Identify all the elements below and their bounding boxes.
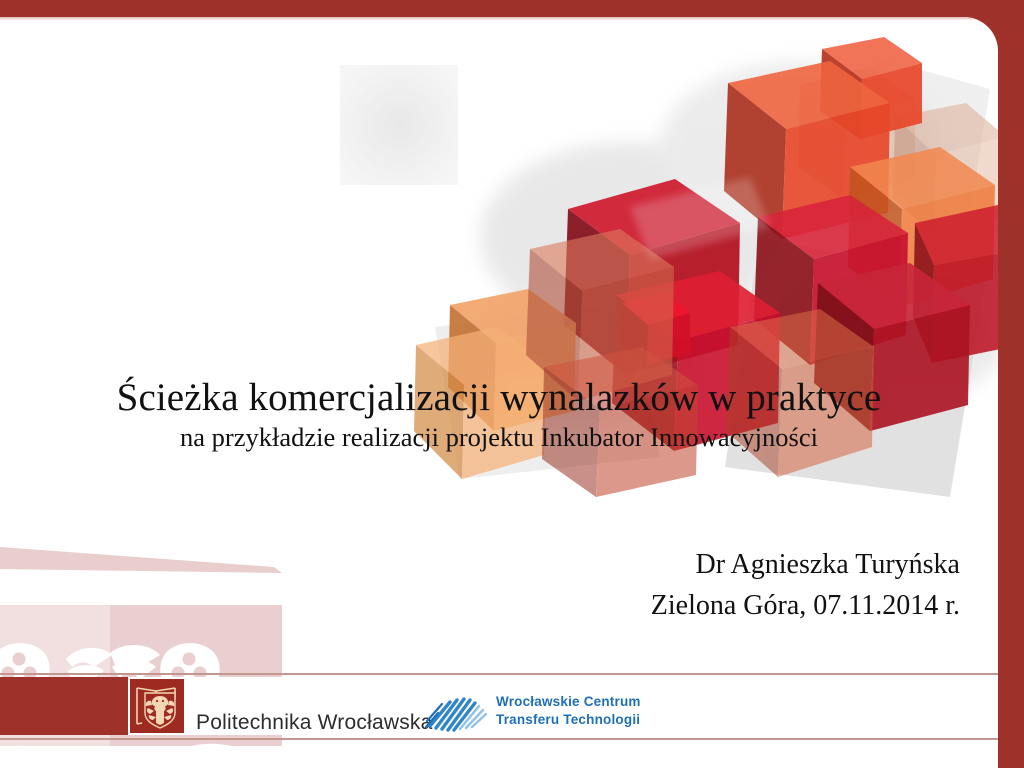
page-subtitle: na przykładzie realizacji projektu Inkub… (0, 422, 998, 452)
bottom-white-strip (0, 746, 998, 768)
top-hairline (0, 17, 998, 20)
author-name: Dr Agnieszka Turyńska (0, 545, 960, 586)
eagle-crest-book-icon (130, 679, 184, 733)
presentation-slide: Ścieżka komercjalizacji wynalazków w pra… (0, 0, 1024, 768)
title-block: Ścieżka komercjalizacji wynalazków w pra… (0, 377, 998, 453)
wctt-name-line2: Transferu Technologii (496, 711, 641, 729)
page-title: Ścieżka komercjalizacji wynalazków w pra… (0, 377, 998, 418)
right-red-border (998, 0, 1024, 768)
footer-red-block (0, 677, 128, 735)
wctt-name-line1: Wrocławskie Centrum (496, 693, 641, 711)
author-place-date: Zielona Góra, 07.11.2014 r. (0, 586, 960, 627)
footer-rule-bottom (0, 738, 998, 740)
author-block: Dr Agnieszka Turyńska Zielona Góra, 07.1… (0, 545, 960, 626)
university-name: Politechnika Wrocławska (196, 711, 432, 735)
footer-rule-top (0, 673, 998, 675)
wctt-name: Wrocławskie Centrum Transferu Technologi… (496, 693, 641, 729)
blue-diagonal-stripes-icon (424, 690, 490, 732)
slide-content-panel: Ścieżka komercjalizacji wynalazków w pra… (0, 17, 998, 768)
